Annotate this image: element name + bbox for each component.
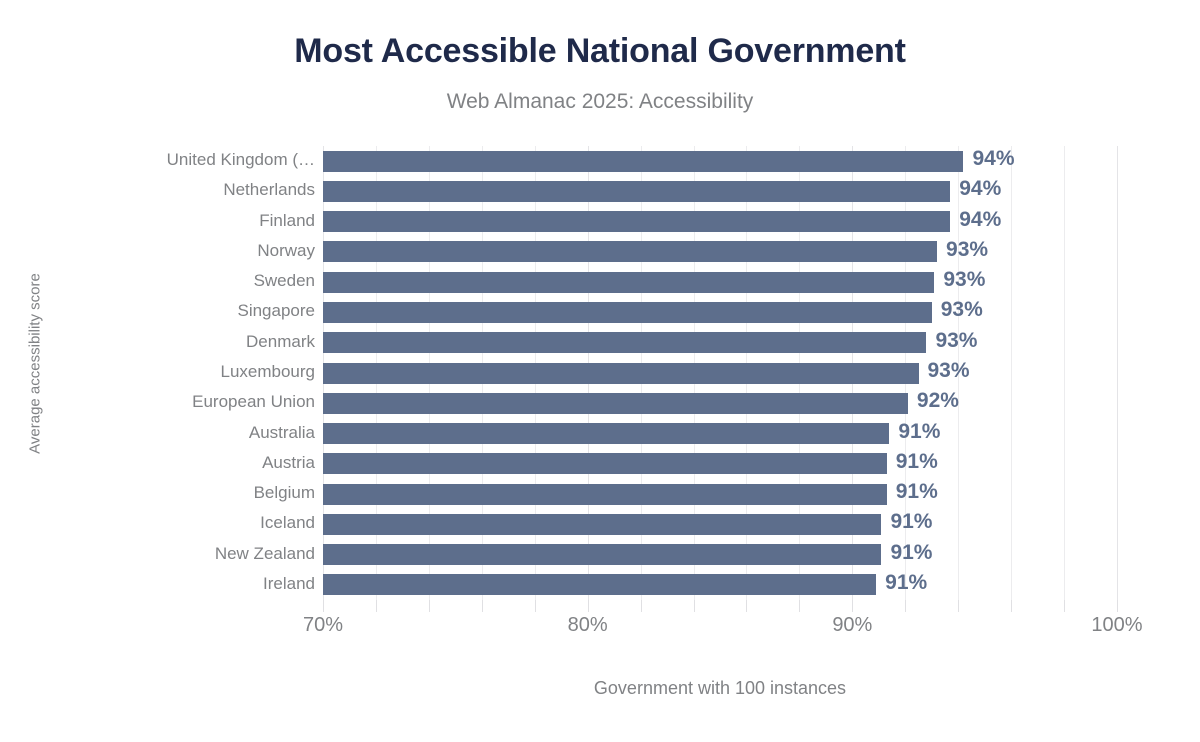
y-axis-tick-label: Norway [70,241,315,261]
bar-chart: Most Accessible National Government Web … [0,0,1200,742]
bar [323,514,881,535]
x-axis-tick-mark [323,600,324,612]
bar [323,423,889,444]
bar [323,363,919,384]
x-axis-tick-mark [694,600,695,612]
x-axis-tick-mark [1117,600,1118,612]
x-axis-tick-mark [482,600,483,612]
bar-value-label: 94% [959,177,1001,201]
x-axis-tick-mark [1064,600,1065,612]
x-axis-tick-mark [429,600,430,612]
x-axis-title: Government with 100 instances [323,678,1117,699]
bar-value-label: 91% [896,450,938,474]
bar [323,393,908,414]
x-axis-tick-label: 80% [568,614,608,637]
x-axis-tick-mark [746,600,747,612]
x-axis-tick-label: 90% [832,614,872,637]
chart-title: Most Accessible National Government [0,32,1200,71]
x-axis-tick-mark [376,600,377,612]
bar [323,211,950,232]
bar [323,332,926,353]
x-axis-tick-mark [588,600,589,612]
y-axis-tick-label: Australia [70,423,315,443]
x-axis-tick-mark [1011,600,1012,612]
bar [323,241,937,262]
bar-value-label: 92% [917,389,959,413]
y-axis-tick-label: Ireland [70,574,315,594]
gridline-minor [1064,146,1065,600]
y-axis-tick-label: United Kingdom (… [70,150,315,170]
y-axis-tick-label: Finland [70,211,315,231]
bar [323,544,881,565]
bar-value-label: 93% [946,238,988,262]
x-axis-tick-mark [799,600,800,612]
x-axis-tick-label: 100% [1091,614,1142,637]
bar-value-label: 91% [885,571,927,595]
y-axis-tick-label: Luxembourg [70,362,315,382]
bar-value-label: 93% [928,359,970,383]
bar [323,453,887,474]
x-axis-tick-mark [535,600,536,612]
bar-value-label: 91% [890,541,932,565]
bar-value-label: 91% [898,420,940,444]
gridline-major [1117,146,1118,600]
bar-value-label: 91% [896,480,938,504]
y-axis-title: Average accessibility score [27,214,44,514]
bar [323,151,963,172]
gridline-minor [1011,146,1012,600]
x-axis-tick-mark [958,600,959,612]
bar [323,574,876,595]
x-axis-tick-label: 70% [303,614,343,637]
y-axis-tick-label: Netherlands [70,180,315,200]
x-axis-tick-mark [905,600,906,612]
bar-value-label: 94% [959,208,1001,232]
y-axis-tick-label: Denmark [70,332,315,352]
y-axis-tick-label: Austria [70,453,315,473]
bar [323,484,887,505]
y-axis-tick-label: New Zealand [70,544,315,564]
bar-value-label: 93% [941,298,983,322]
y-axis-tick-label: Belgium [70,483,315,503]
bar-value-label: 94% [972,147,1014,171]
x-axis-tick-mark [641,600,642,612]
x-axis-tick-mark [852,600,853,612]
bar-value-label: 91% [890,510,932,534]
bar [323,302,932,323]
chart-subtitle: Web Almanac 2025: Accessibility [0,90,1200,114]
bar-value-label: 93% [935,329,977,353]
bar-value-label: 93% [943,268,985,292]
bar [323,181,950,202]
bar [323,272,934,293]
y-axis-tick-label: Singapore [70,301,315,321]
y-axis-tick-label: European Union [70,392,315,412]
y-axis-tick-label: Sweden [70,271,315,291]
y-axis-tick-label: Iceland [70,513,315,533]
